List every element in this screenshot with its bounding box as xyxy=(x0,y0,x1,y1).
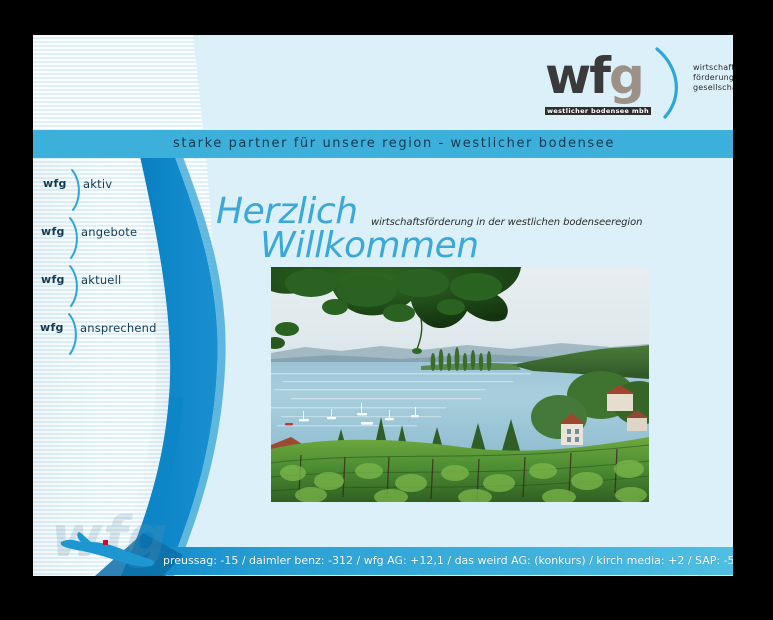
nav-prefix: wfg xyxy=(43,177,67,190)
location-marker-icon xyxy=(103,540,108,545)
hero-photo xyxy=(271,267,649,502)
sidebar-item-aktiv[interactable]: wfg aktiv xyxy=(33,169,183,217)
headline-line-2: Willkommen xyxy=(260,229,686,263)
logo-wordmark: wfg xyxy=(545,51,643,101)
news-ticker[interactable]: preussag: -15 / daimler benz: -312 / wfg… xyxy=(33,547,733,575)
logo-tagline-line2: förderungs xyxy=(693,73,733,83)
nav-prefix: wfg xyxy=(41,225,65,238)
logo-tagline-line3: gesellschaft xyxy=(693,83,733,93)
sidebar-item-ansprechend[interactable]: wfg ansprechend xyxy=(33,313,183,361)
logo-tagline: wirtschafts förderungs gesellschaft xyxy=(693,63,733,93)
nav-prefix: wfg xyxy=(40,321,64,334)
welcome-headline: Herzlich Willkommen wirtschaftsförderung… xyxy=(216,195,686,263)
nav-prefix: wfg xyxy=(41,273,65,286)
site-logo[interactable]: wfg westlicher bodensee mbh wirtschafts … xyxy=(545,43,725,121)
nav-label: aktiv xyxy=(83,177,112,191)
logo-tagline-line1: wirtschafts xyxy=(693,63,733,73)
tagline-banner-text: starke partner für unsere region - westl… xyxy=(173,130,615,158)
sidebar-item-angebote[interactable]: wfg angebote xyxy=(33,217,183,265)
ticker-text: preussag: -15 / daimler benz: -312 / wfg… xyxy=(163,547,733,575)
logo-rule-text: westlicher bodensee mbh xyxy=(545,107,651,115)
nav-label: aktuell xyxy=(81,273,121,287)
logo-letter-w: w xyxy=(545,47,589,105)
closing-paren-swoosh-icon xyxy=(649,47,693,119)
headline-tagline: wirtschaftsförderung in der westlichen b… xyxy=(371,217,642,228)
sidebar-item-aktuell[interactable]: wfg aktuell xyxy=(33,265,183,313)
logo-rule-bar: westlicher bodensee mbh xyxy=(545,107,651,115)
website-page: wfg westlicher bodensee mbh wirtschafts … xyxy=(33,35,733,576)
nav-label: angebote xyxy=(81,225,137,239)
nav-label: ansprechend xyxy=(80,321,157,335)
logo-letter-g: g xyxy=(609,47,643,105)
logo-letter-f: f xyxy=(589,47,609,105)
main-navigation: wfg aktiv wfg angebote wfg aktuell wfg xyxy=(33,169,183,361)
